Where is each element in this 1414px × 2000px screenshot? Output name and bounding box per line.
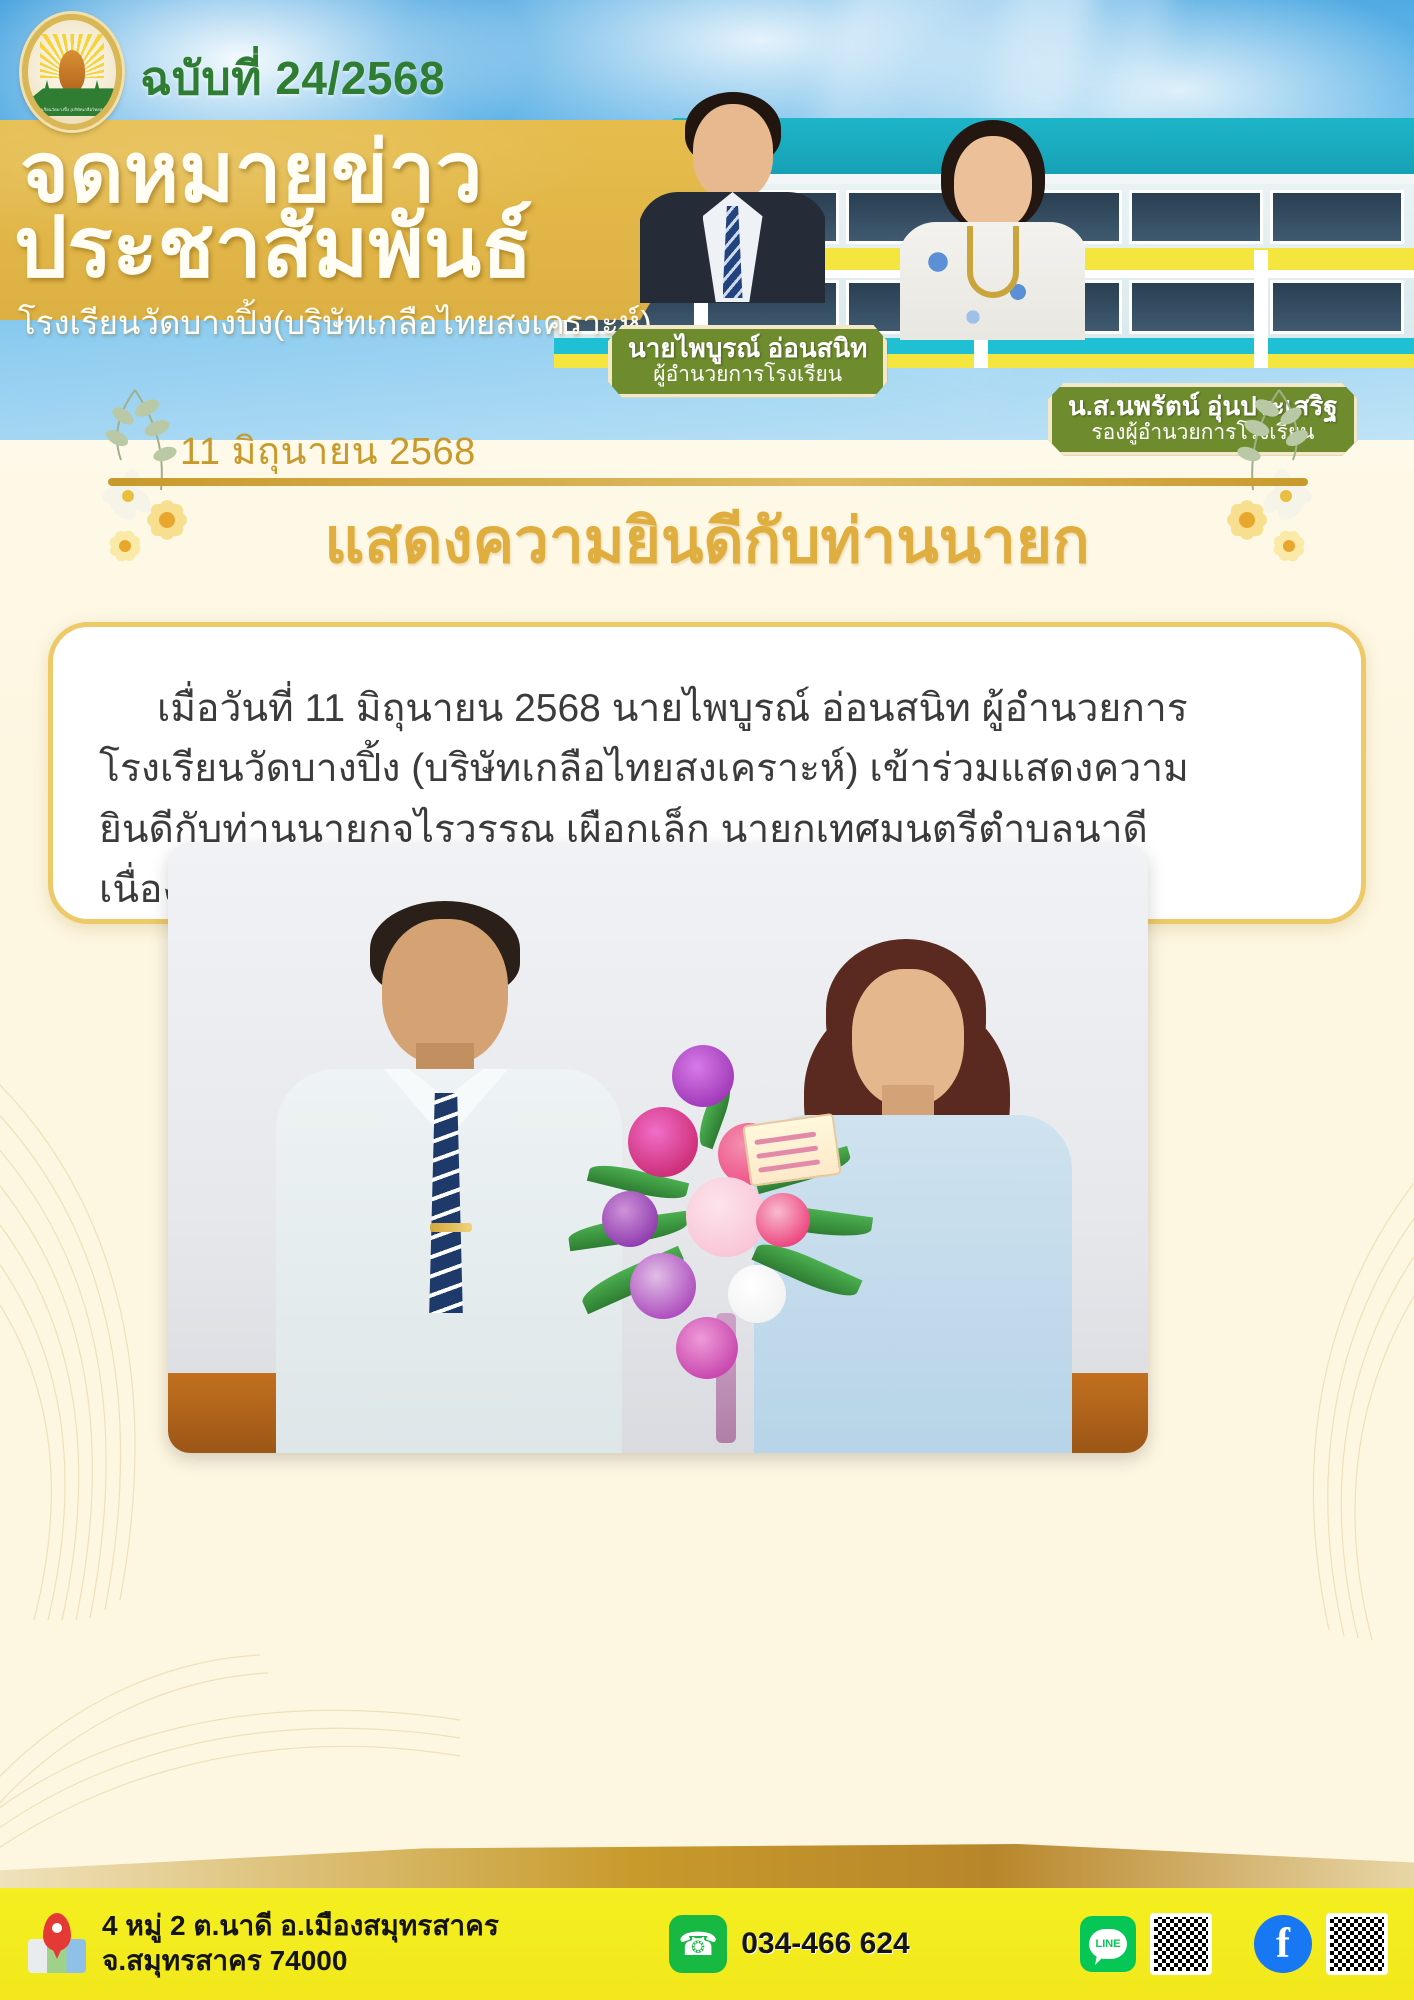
footer-contact-bar: 4 หมู่ 2 ต.นาดี อ.เมืองสมุทรสาคร จ.สมุทร… (0, 1888, 1414, 2000)
line-group[interactable]: LINE (1080, 1913, 1212, 1975)
director-nameplate: นายไพบูรณ์ อ่อนสนิท ผู้อำนวยการโรงเรียน (608, 325, 887, 398)
deputy-face (954, 136, 1032, 230)
facebook-qr-code[interactable] (1326, 1913, 1388, 1975)
footer-wave-decoration (0, 1844, 1414, 1888)
director-name: นายไพบูรณ์ อ่อนสนิท (628, 334, 867, 363)
line-logo-label: LINE (1089, 1929, 1127, 1959)
deputy-lanyard (967, 226, 1019, 298)
address-text: 4 หมู่ 2 ต.นาดี อ.เมืองสมุทรสาคร จ.สมุทร… (102, 1909, 499, 1978)
school-logo: โรงเรียนวัดบางปิ้ง (บริษัทเกลือไทยสงเครา… (22, 14, 122, 130)
phone-group[interactable]: ☎ 034-466 624 (669, 1915, 910, 1973)
article-date-row: 11 มิถุนายน 2568 (180, 420, 476, 481)
phone-icon: ☎ (669, 1915, 727, 1973)
decorative-swirl-bottom (0, 1480, 460, 1880)
school-name: โรงเรียนวัดบางปิ้ง(บริษัทเกลือไทยสงเคราะ… (18, 296, 652, 349)
logo-ribbon-text: โรงเรียนวัดบางปิ้ง (บริษัทเกลือไทยสงเครา… (32, 106, 122, 113)
flower-bouquet (568, 1023, 868, 1443)
decorative-swirl-right (1114, 1080, 1414, 1640)
director-portrait (640, 88, 825, 303)
line-icon[interactable]: LINE (1080, 1916, 1136, 1972)
director-role: ผู้อำนวยการโรงเรียน (628, 363, 867, 387)
address-line-2: จ.สมุทรสาคร 74000 (102, 1944, 499, 1979)
newsletter-title-line2: ประชาสัมพันธ์ (14, 205, 532, 289)
facebook-group[interactable]: f (1254, 1913, 1388, 1975)
logo-buddha-icon (59, 50, 85, 92)
line-qr-code[interactable] (1150, 1913, 1212, 1975)
address-line-1: 4 หมู่ 2 ต.นาดี อ.เมืองสมุทรสาคร (102, 1909, 499, 1944)
edition-number: ฉบับที่ 24/2568 (140, 42, 445, 115)
gold-divider (108, 478, 1308, 486)
director-photo-tie-clip (430, 1223, 472, 1232)
deputy-portrait (900, 118, 1085, 340)
facebook-icon[interactable]: f (1254, 1915, 1312, 1973)
newsletter-poster: โรงเรียนวัดบางปิ้ง (บริษัทเกลือไทยสงเครา… (0, 0, 1414, 2000)
bouquet-greeting-card (742, 1113, 842, 1187)
article-photo (168, 843, 1148, 1453)
article-date: 11 มิถุนายน 2568 (180, 431, 476, 473)
map-pin-icon (26, 1913, 88, 1975)
phone-number: 034-466 624 (741, 1927, 910, 1961)
logo-ribbon: โรงเรียนวัดบางปิ้ง (บริษัทเกลือไทยสงเครา… (32, 86, 122, 116)
body-line-2: โรงเรียนวัดบางปิ้ง (บริษัทเกลือไทยสงเครา… (99, 747, 1189, 790)
body-line-1: เมื่อวันที่ 11 มิถุนายน 2568 นายไพบูรณ์ … (157, 687, 1188, 730)
director-face (693, 104, 773, 200)
article-headline: แสดงความยินดีกับท่านนายก (0, 492, 1414, 590)
address-group: 4 หมู่ 2 ต.นาดี อ.เมืองสมุทรสาคร จ.สมุทร… (26, 1909, 499, 1978)
